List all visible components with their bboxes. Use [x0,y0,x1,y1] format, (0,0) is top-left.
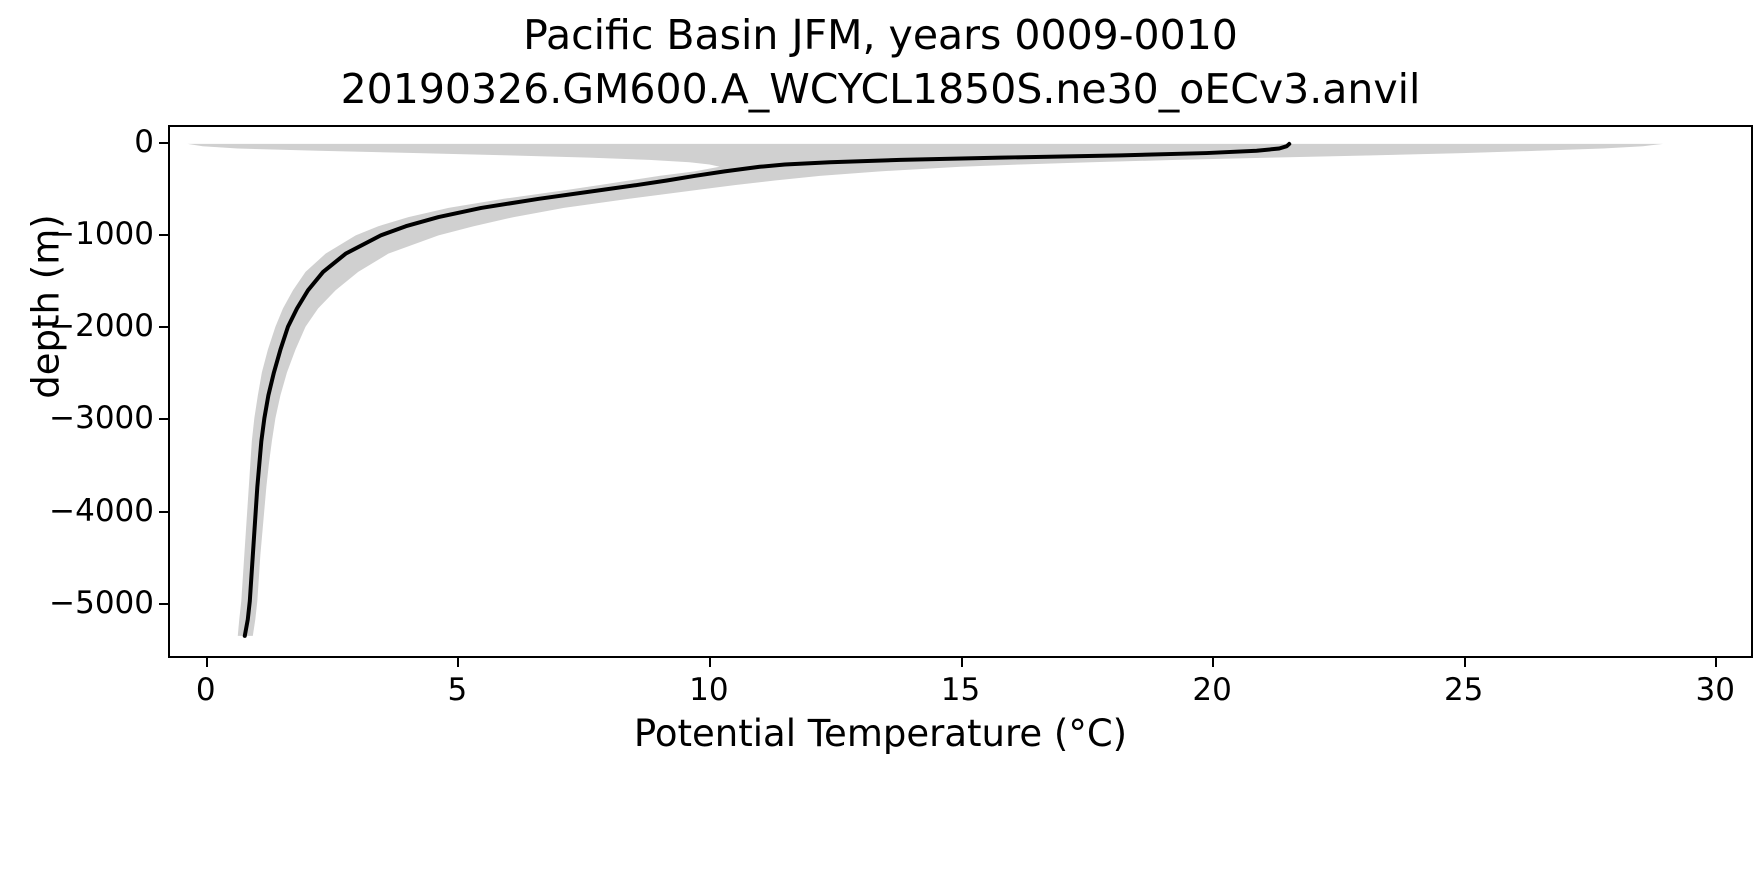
y-axis-label: depth (m) [25,47,68,567]
x-tick-25 [1464,658,1466,667]
x-tick-0 [206,658,208,667]
chart-title-line-1: Pacific Basin JFM, years 0009-0010 [0,8,1761,62]
y-tick--2000 [159,326,168,328]
x-tick-label-10: 10 [689,672,728,708]
y-tick-label-0: 0 [134,124,154,160]
chart-title: Pacific Basin JFM, years 0009-0010 20190… [0,8,1761,116]
x-tick-20 [1212,658,1214,667]
x-tick-label-15: 15 [941,672,980,708]
x-axis-label: Potential Temperature (°C) [0,712,1761,755]
mean-temperature-line [245,144,1289,636]
x-tick-label-30: 30 [1696,672,1735,708]
y-tick-label--5000: −5000 [49,585,154,621]
figure-canvas: Pacific Basin JFM, years 0009-0010 20190… [0,0,1761,882]
x-tick-15 [961,658,963,667]
plot-area-svg [170,127,1751,656]
x-tick-30 [1715,658,1717,667]
x-tick-label-5: 5 [447,672,467,708]
y-tick--1000 [159,234,168,236]
y-tick--5000 [159,603,168,605]
x-tick-label-25: 25 [1444,672,1483,708]
x-tick-5 [457,658,459,667]
y-tick--4000 [159,511,168,513]
chart-title-line-2: 20190326.GM600.A_WCYCL1850S.ne30_oECv3.a… [0,62,1761,116]
y-tick--3000 [159,418,168,420]
std-dev-band [188,144,1664,636]
y-tick-0 [159,142,168,144]
x-tick-label-0: 0 [196,672,216,708]
plot-axes [168,125,1753,658]
x-tick-label-20: 20 [1192,672,1231,708]
x-tick-10 [709,658,711,667]
